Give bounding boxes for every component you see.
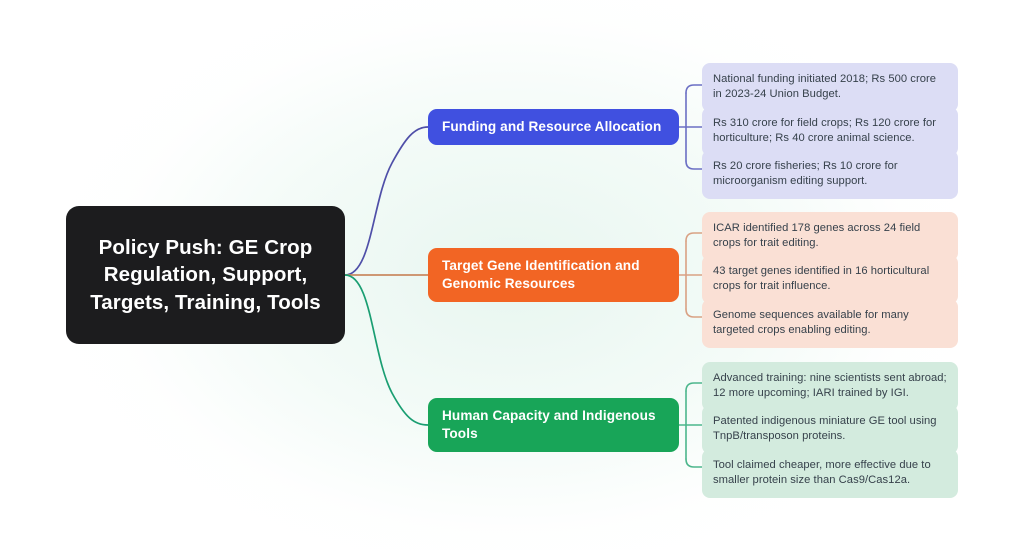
branch-node-funding[interactable]: Funding and Resource Allocation	[428, 109, 679, 145]
connector-branch-1-leaves	[679, 233, 702, 317]
branch-node-label: Target Gene Identification and Genomic R…	[442, 257, 665, 294]
leaf-card[interactable]: Genome sequences available for many targ…	[702, 299, 958, 348]
leaf-card[interactable]: 43 target genes identified in 16 horticu…	[702, 255, 958, 304]
branch-node-target-gene[interactable]: Target Gene Identification and Genomic R…	[428, 248, 679, 302]
leaf-card[interactable]: Rs 20 crore fisheries; Rs 10 crore for m…	[702, 150, 958, 199]
leaf-card-text: ICAR identified 178 genes across 24 fiel…	[713, 221, 947, 252]
leaf-card[interactable]: Advanced training: nine scientists sent …	[702, 362, 958, 411]
branch-node-label: Human Capacity and Indigenous Tools	[442, 407, 665, 444]
leaf-card-text: 43 target genes identified in 16 horticu…	[713, 264, 947, 295]
branch-node-human-capacity[interactable]: Human Capacity and Indigenous Tools	[428, 398, 679, 452]
leaf-card-text: Advanced training: nine scientists sent …	[713, 371, 947, 402]
leaf-card[interactable]: Patented indigenous miniature GE tool us…	[702, 405, 958, 454]
leaf-card-text: Patented indigenous miniature GE tool us…	[713, 414, 947, 445]
leaf-card[interactable]: National funding initiated 2018; Rs 500 …	[702, 63, 958, 112]
leaf-card-text: Tool claimed cheaper, more effective due…	[713, 458, 947, 489]
leaf-card-text: Genome sequences available for many targ…	[713, 308, 947, 339]
mindmap-canvas: Policy Push: GE Crop Regulation, Support…	[0, 0, 1024, 550]
leaf-card[interactable]: ICAR identified 178 genes across 24 fiel…	[702, 212, 958, 261]
leaf-card-text: Rs 310 crore for field crops; Rs 120 cro…	[713, 116, 947, 147]
connector-root-to-branch-0	[345, 127, 428, 275]
leaf-card[interactable]: Tool claimed cheaper, more effective due…	[702, 449, 958, 498]
branch-node-label: Funding and Resource Allocation	[442, 118, 661, 136]
connector-root-to-branch-2	[345, 275, 428, 425]
leaf-card-text: National funding initiated 2018; Rs 500 …	[713, 72, 947, 103]
leaf-card[interactable]: Rs 310 crore for field crops; Rs 120 cro…	[702, 107, 958, 156]
connector-branch-0-leaves	[679, 85, 702, 169]
root-node[interactable]: Policy Push: GE Crop Regulation, Support…	[66, 206, 345, 344]
connector-branch-2-leaves	[679, 383, 702, 467]
leaf-card-text: Rs 20 crore fisheries; Rs 10 crore for m…	[713, 159, 947, 190]
root-node-label: Policy Push: GE Crop Regulation, Support…	[82, 234, 329, 315]
